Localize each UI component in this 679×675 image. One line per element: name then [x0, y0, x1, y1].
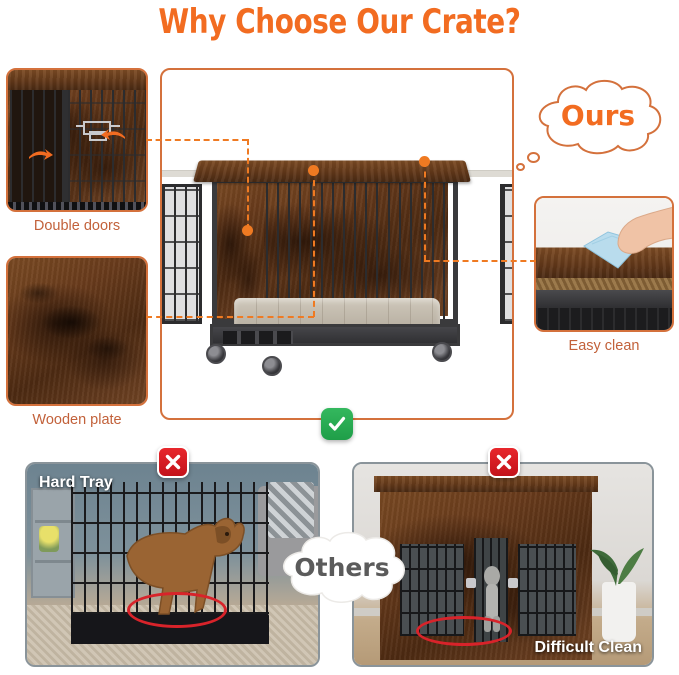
crate-frame-rail: [534, 290, 674, 308]
front-door-cross-wires: [68, 90, 148, 208]
base-vent-slots: [223, 331, 293, 344]
wooden-plate-photo: [8, 258, 146, 404]
open-door-right-wires: [503, 187, 512, 321]
connector-line-wooden-plate: [146, 316, 314, 318]
x-icon: [495, 453, 513, 471]
arrow-left-icon: [100, 128, 126, 144]
feature-panel-wooden-plate: [6, 256, 148, 406]
feature-panel-easy-clean: [534, 196, 674, 332]
bottom-rail: [8, 202, 146, 210]
crate-top-surface: [8, 70, 146, 90]
open-door-right: [500, 184, 512, 324]
cabinet-door-right-wires: [518, 544, 576, 636]
cabinet-latch: [466, 578, 476, 588]
x-badge-difficult-clean: [488, 446, 520, 478]
shelf-plant: [39, 526, 59, 552]
cabinet-latch: [508, 578, 518, 588]
crate-bars: [536, 308, 674, 332]
connector-line-double-doors-drop: [247, 139, 249, 230]
dog-crate-furniture: [204, 158, 460, 358]
page-title: Why Choose Our Crate?: [61, 2, 618, 42]
arrow-right-icon: [28, 148, 54, 164]
plant-leaves-icon: [588, 526, 646, 588]
ours-thought-bubble: Ours: [528, 76, 668, 158]
others-thought-bubble: Others: [272, 528, 412, 606]
easy-clean-photo: [536, 198, 672, 330]
connector-line-easy-clean: [424, 260, 536, 262]
crate-base-plinth: [210, 324, 460, 346]
caption-double-doors: Double doors: [6, 218, 148, 234]
thought-bubble-dot-small: [516, 163, 525, 171]
problem-highlight-ellipse: [416, 616, 512, 646]
open-door-left: [162, 184, 202, 324]
caster-wheel: [432, 342, 452, 362]
problem-highlight-ellipse: [127, 592, 227, 628]
main-product-photo: [162, 70, 512, 418]
tabletop-edge: [534, 278, 674, 290]
caption-easy-clean: Easy clean: [534, 338, 674, 354]
check-badge: [321, 408, 353, 440]
connector-dot-easy-clean: [419, 156, 430, 167]
hand-icon: [612, 204, 674, 260]
caption-wooden-plate: Wooden plate: [6, 412, 148, 428]
x-icon: [164, 453, 182, 471]
check-icon: [327, 414, 347, 434]
plant-pot: [602, 582, 636, 642]
connector-line-wooden-plate-drop: [313, 170, 315, 317]
double-doors-photo: [8, 70, 146, 210]
thought-bubble-dot-large: [527, 152, 540, 163]
shelf-divider: [35, 520, 71, 523]
main-product-photo-panel: [160, 68, 514, 420]
wood-grain-knots: [8, 258, 146, 404]
connector-line-easy-clean-drop: [424, 161, 426, 261]
connector-line-double-doors: [146, 139, 248, 141]
caster-wheel: [262, 356, 282, 376]
open-door-left-wires: [163, 187, 199, 321]
x-badge-hard-tray: [157, 446, 189, 478]
ours-label: Ours: [528, 74, 668, 156]
shelf-divider: [35, 560, 71, 563]
cabinet-top-surface: [374, 476, 598, 492]
feature-panel-double-doors: [6, 68, 148, 212]
difficult-clean-label: Difficult Clean: [534, 639, 642, 657]
cabinet-door-right: [518, 544, 576, 636]
others-label: Others: [272, 528, 412, 606]
connector-dot-double-doors: [242, 225, 253, 236]
hard-tray-label: Hard Tray: [39, 474, 113, 492]
caster-wheel: [206, 344, 226, 364]
infographic-canvas: Why Choose Our Crate?: [0, 0, 679, 675]
connector-dot-wooden-plate: [308, 165, 319, 176]
